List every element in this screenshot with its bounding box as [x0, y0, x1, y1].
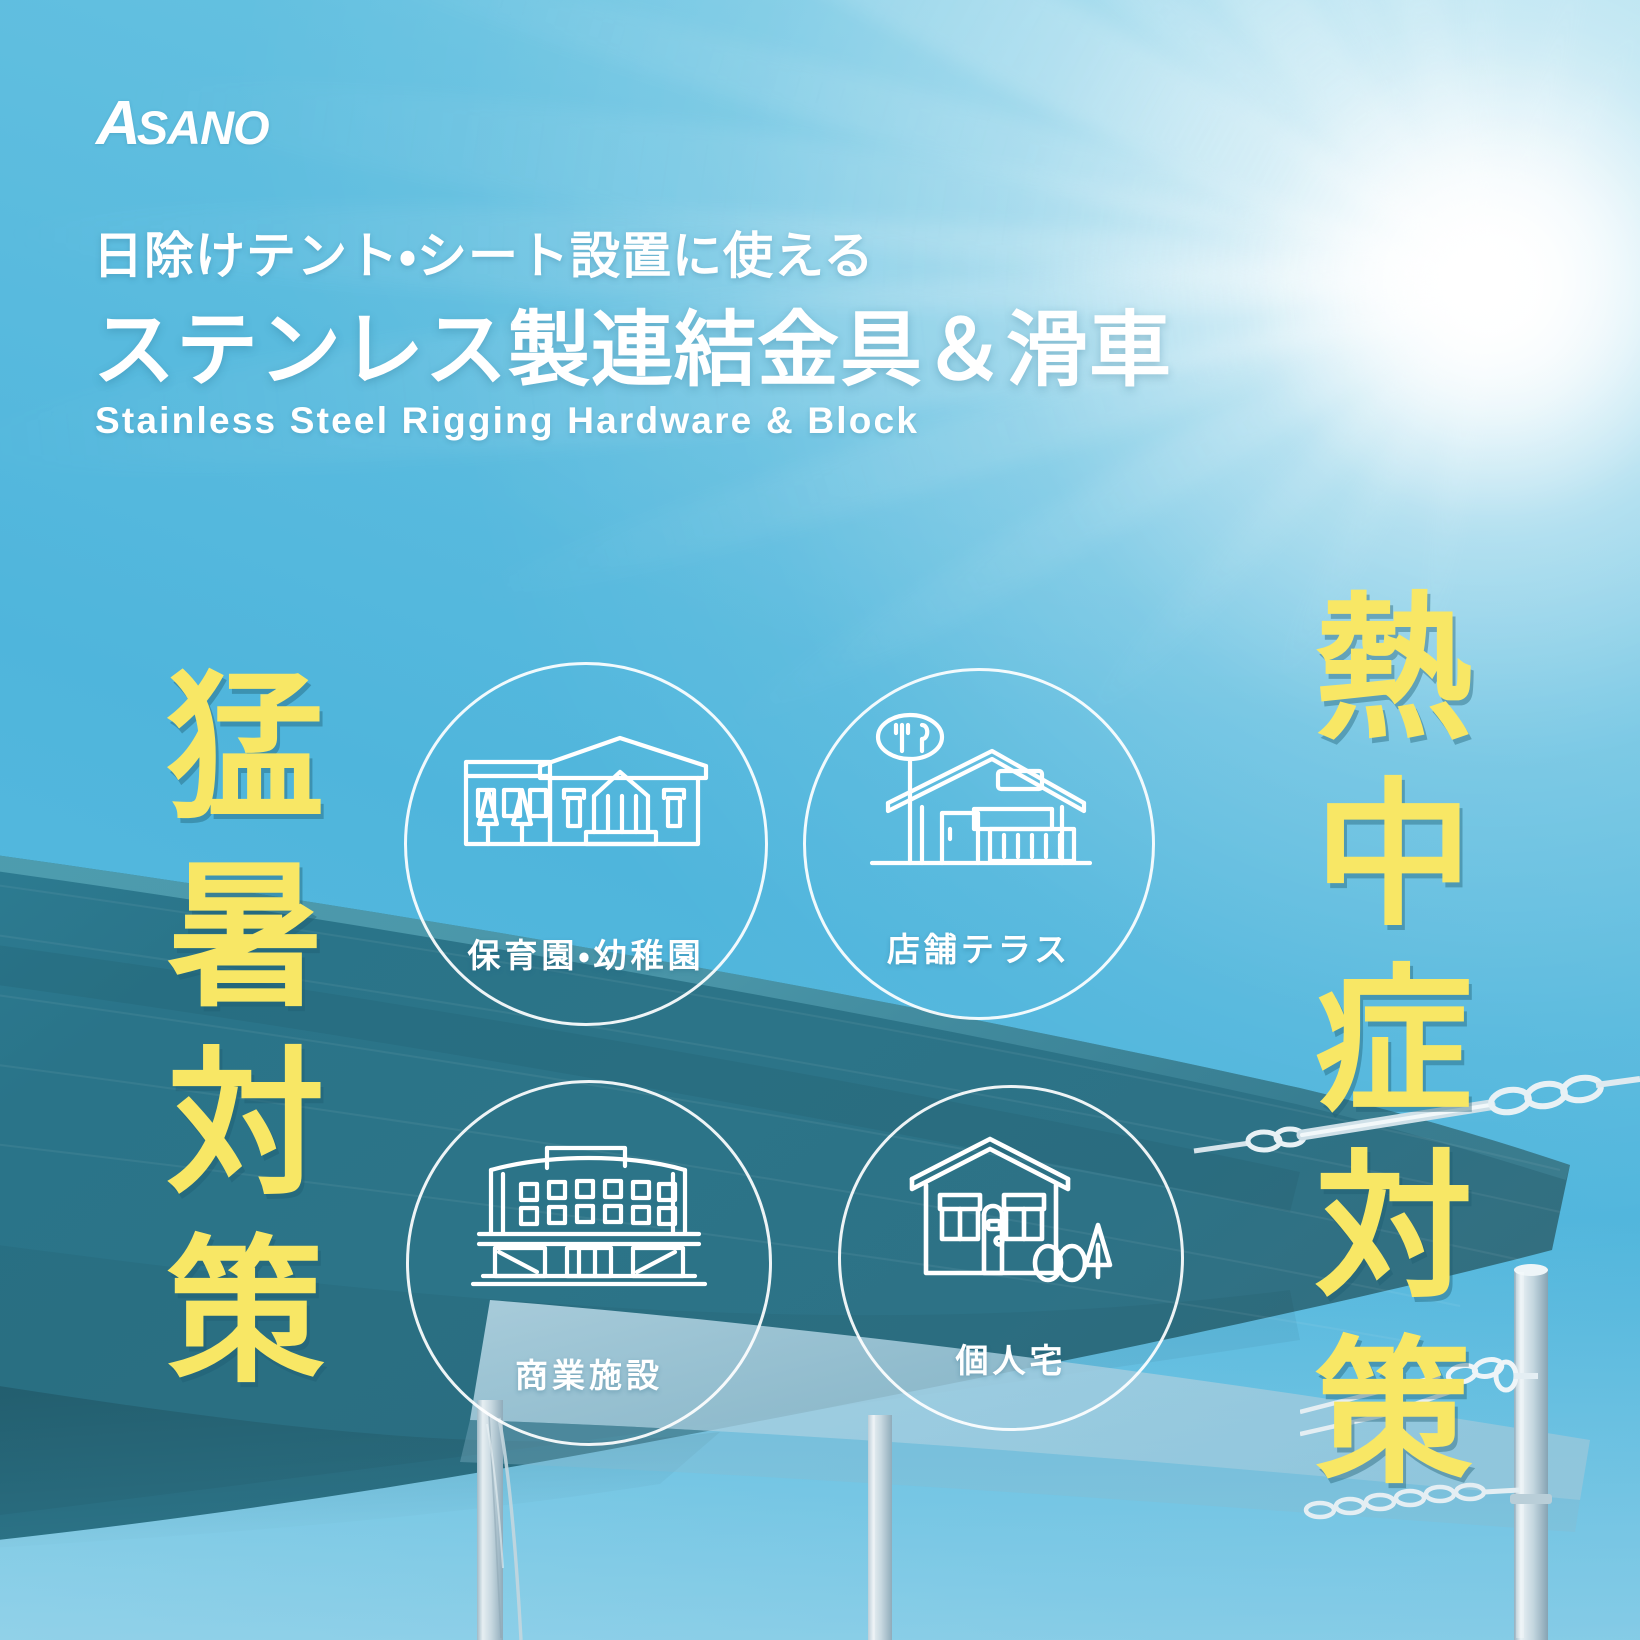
- logo-wordmark: SANO: [137, 101, 269, 154]
- circle-label: 商業施設: [515, 1349, 663, 1397]
- commercial-facility-icon: [409, 1142, 769, 1290]
- use-case-circle-private-house[interactable]: 個人宅: [838, 1085, 1184, 1431]
- vertical-text-heat-measures: 猛暑対策: [152, 664, 310, 1416]
- circle-label: 個人宅: [956, 1334, 1067, 1382]
- logo-initial: A: [96, 89, 140, 158]
- poster-canvas: ASANO 日除けテント・シート設置に使える ステンレス製連結金具＆滑車 Sta…: [0, 0, 1640, 1640]
- use-case-circle-commercial[interactable]: 商業施設: [406, 1080, 772, 1446]
- private-house-icon: [841, 1133, 1181, 1289]
- page-title: ステンレス製連結金具＆滑車: [93, 283, 1172, 402]
- kindergarten-building-icon: [407, 732, 765, 862]
- use-case-circle-shop-terrace[interactable]: 店舗テラス: [803, 668, 1155, 1020]
- support-pole-mid: [850, 1415, 910, 1640]
- headline-kicker: 日除けテント・シート設置に使える: [93, 216, 875, 288]
- headline-subtitle: Stainless Steel Rigging Hardware & Block: [95, 400, 919, 442]
- asano-logo[interactable]: ASANO: [96, 93, 269, 155]
- use-case-circle-kindergarten[interactable]: 保育園・幼稚園: [404, 662, 768, 1026]
- vertical-text-heatstroke-measures: 熱中症対策: [1300, 585, 1458, 1515]
- circle-label: 店舗テラス: [887, 923, 1071, 971]
- restaurant-terrace-icon: [806, 711, 1152, 883]
- circle-label: 保育園・幼稚園: [467, 929, 704, 977]
